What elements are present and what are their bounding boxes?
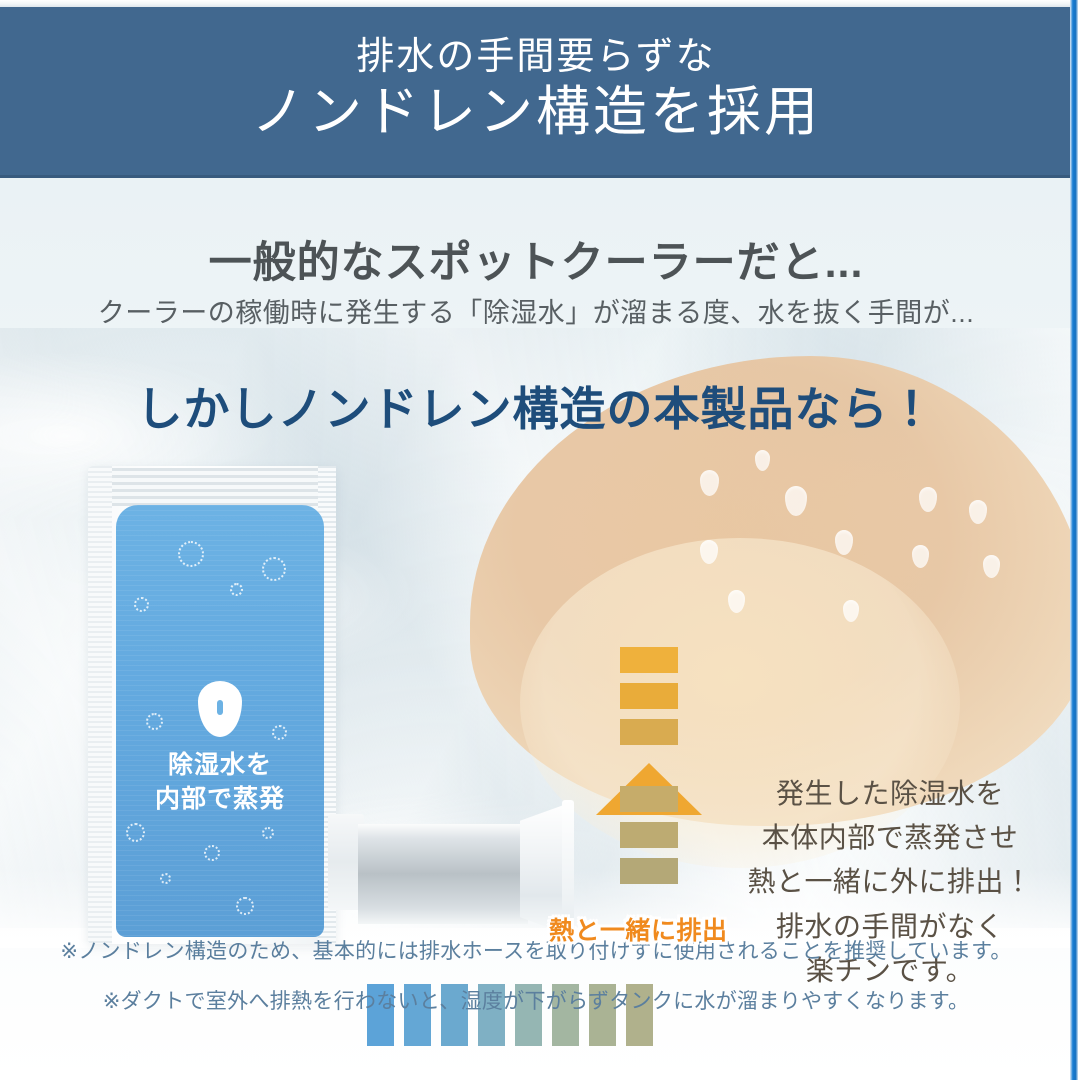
arrow-segment-2 xyxy=(620,719,678,745)
bubble-1 xyxy=(262,557,286,581)
panel-label-line2: 内部で蒸発 xyxy=(116,783,324,817)
footnote-2: ※ダクトで室外へ排熱を行わないと、湿度が下がらずタンクに水が溜まりやすくなります… xyxy=(0,990,1072,1013)
duct-tube xyxy=(358,824,528,924)
footnote-1: ※ノンドレン構造のため、基本的には排水ホースを取り付けずに使用されることを推奨し… xyxy=(0,940,1072,963)
bubble-8 xyxy=(262,827,274,839)
content-canvas: 一般的なスポットクーラーだと... クーラーの稼働時に発生する「除湿水」が溜まる… xyxy=(0,178,1072,1080)
page-root: 排水の手間要らずな ノンドレン構造を採用 一般的なスポットクーラーだと... ク… xyxy=(0,0,1078,1080)
bubble-0 xyxy=(178,541,204,567)
bubble-6 xyxy=(126,823,145,842)
bubble-2 xyxy=(134,597,149,612)
water-drop-highlight xyxy=(217,700,223,715)
unit-top-louver xyxy=(112,468,336,506)
footnotes: ※ノンドレン構造のため、基本的には排水ホースを取り付けずに使用されることを推奨し… xyxy=(0,940,1072,1013)
explanation-line-3: 熱と一緒に外に排出！ xyxy=(740,860,1040,904)
water-drop-icon xyxy=(198,681,242,737)
evaporation-panel: 除湿水を 内部で蒸発 xyxy=(116,505,324,937)
header-banner: 排水の手間要らずな ノンドレン構造を採用 xyxy=(0,7,1072,178)
arrow-segment-5 xyxy=(620,858,678,884)
arrow-segment-0 xyxy=(620,647,678,673)
banner-title: ノンドレン構造を採用 xyxy=(251,80,821,146)
explanation-line-2: 本体内部で蒸発させ xyxy=(740,816,1040,860)
arrow-segment-1 xyxy=(620,683,678,709)
arrow-segment-4 xyxy=(620,822,678,848)
bubble-10 xyxy=(160,873,171,884)
intro-heading: 一般的なスポットクーラーだと... xyxy=(0,228,1072,290)
bubble-5 xyxy=(272,725,287,740)
explanation-line-1: 発生した除湿水を xyxy=(740,772,1040,816)
panel-label-line1: 除湿水を xyxy=(116,749,324,783)
intro-subheading: クーラーの稼働時に発生する「除湿水」が溜まる度、水を抜く手間が... xyxy=(0,291,1072,330)
panel-label: 除湿水を 内部で蒸発 xyxy=(116,749,324,816)
bubble-7 xyxy=(204,845,220,861)
banner-subtitle: 排水の手間要らずな xyxy=(356,36,715,79)
arrow-segment-3 xyxy=(620,786,678,812)
bubble-4 xyxy=(146,713,163,730)
vertical-scrollbar[interactable] xyxy=(1070,0,1078,1080)
top-rule xyxy=(0,0,1078,7)
exhaust-callout-label: 熱と一緒に排出 xyxy=(549,911,728,947)
bubble-9 xyxy=(236,897,254,915)
blue-headline: しかしノンドレン構造の本製品なら！ xyxy=(0,373,1072,439)
bubble-3 xyxy=(230,583,243,596)
unit-left-rail xyxy=(88,466,112,944)
